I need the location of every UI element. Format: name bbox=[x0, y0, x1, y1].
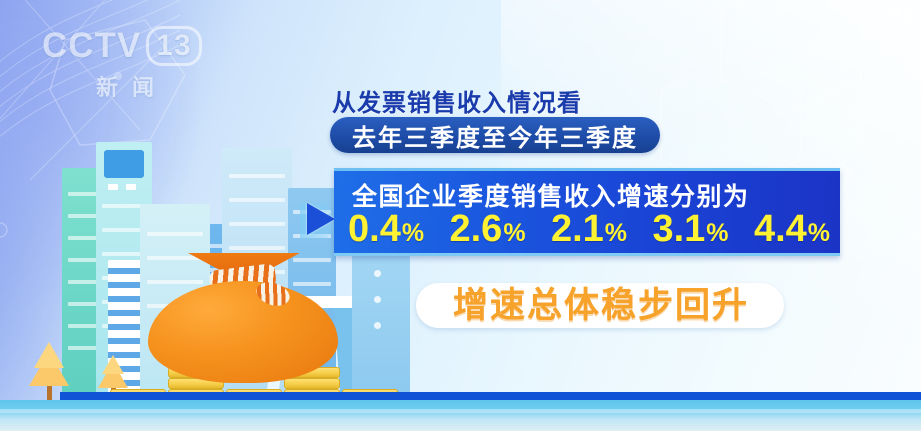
percentage-unit: % bbox=[808, 213, 830, 253]
percentage-value: 2.6 bbox=[449, 209, 502, 249]
percentage-item: 4.4 % bbox=[754, 209, 830, 253]
percentage-unit: % bbox=[402, 213, 424, 253]
percentage-item: 2.6 % bbox=[449, 209, 525, 253]
broadcast-frame: CCTV 13 新闻 bbox=[0, 0, 921, 431]
water-band bbox=[0, 400, 921, 431]
period-badge: 去年三季度至今年三季度 bbox=[330, 117, 660, 153]
statistics-banner: 全国企业季度销售收入增速分别为 0.4 % 2.6 % 2.1 % 3.1 % … bbox=[334, 168, 840, 256]
percentage-item: 2.1 % bbox=[551, 209, 627, 253]
cctv-channel-logo: CCTV 13 新闻 bbox=[42, 26, 222, 98]
percentage-value: 0.4 bbox=[348, 209, 401, 249]
money-bag bbox=[148, 255, 338, 383]
arrow-right-icon bbox=[307, 203, 335, 235]
percentage-value: 3.1 bbox=[652, 209, 705, 249]
period-badge-label: 去年三季度至今年三季度 bbox=[352, 118, 638, 153]
percentage-list: 0.4 % 2.6 % 2.1 % 3.1 % 4.4 % bbox=[348, 209, 830, 253]
news-card-icon bbox=[885, 4, 915, 30]
slogan-text: 增速总体稳步回升 bbox=[436, 277, 766, 328]
percentage-unit: % bbox=[605, 213, 627, 253]
logo-channel-number: 13 bbox=[146, 26, 201, 66]
logo-cctv-text: CCTV bbox=[42, 26, 141, 66]
percentage-item: 0.4 % bbox=[348, 209, 424, 253]
percentage-item: 3.1 % bbox=[652, 209, 728, 253]
logo-channel-subtitle: 新闻 bbox=[42, 70, 222, 102]
water-highlight bbox=[0, 409, 921, 413]
percentage-unit: % bbox=[503, 213, 525, 253]
percentage-value: 2.1 bbox=[551, 209, 604, 249]
percentage-value: 4.4 bbox=[754, 209, 807, 249]
page-title: 从发票销售收入情况看 bbox=[332, 83, 582, 118]
tree-large bbox=[22, 334, 76, 400]
percentage-unit: % bbox=[706, 213, 728, 253]
